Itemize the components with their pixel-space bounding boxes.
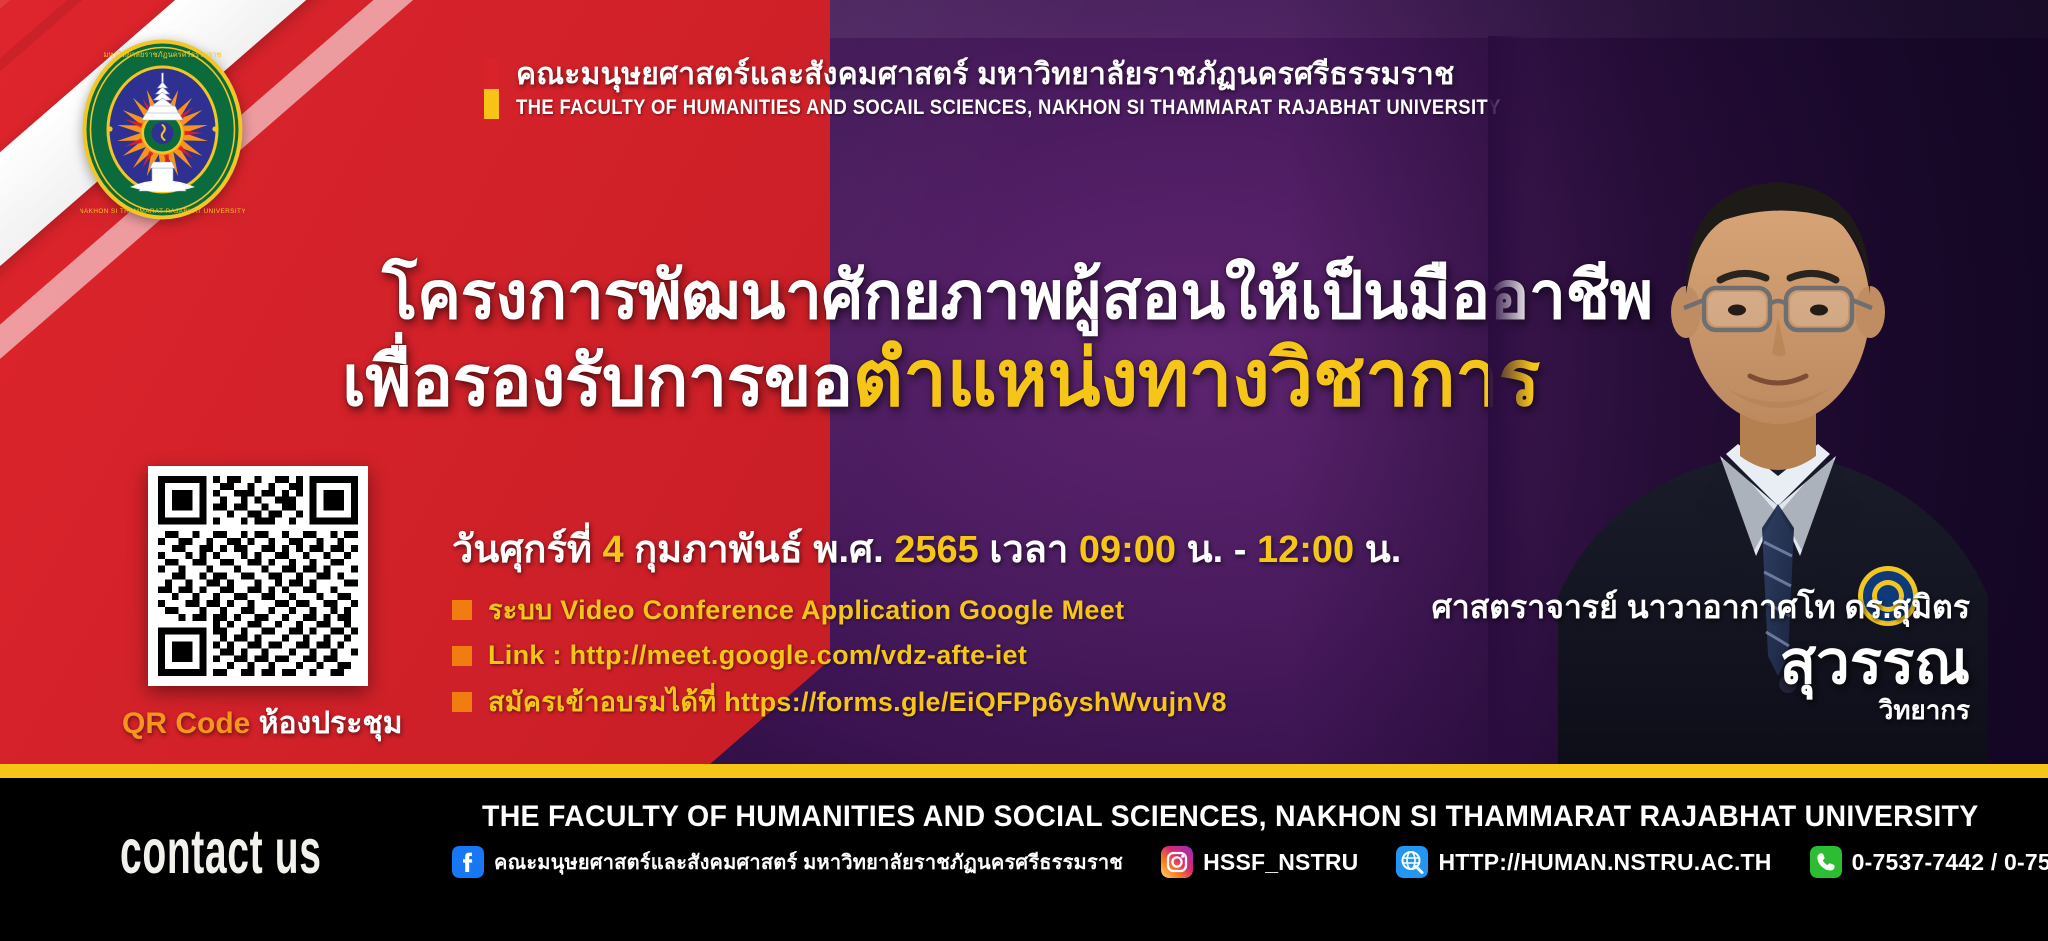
instagram-contact[interactable]: HSSF_NSTRU [1161,846,1358,878]
date-month: กุมภาพันธ์ พ.ศ. [634,529,884,571]
speaker-name: สุวรรณ [1431,631,1970,694]
facebook-contact[interactable]: คณะมนุษยศาสตร์และสังคมศาสตร์ มหาวิทยาลัย… [452,846,1123,878]
promotional-banner: มหาวิทยาลัยราชภัฏนครศรีธรรมราช NAKHON SI… [0,0,2048,941]
university-seal-logo: มหาวิทยาลัยราชภัฏนครศรีธรรมราช NAKHON SI… [80,37,245,222]
qr-code-caption: QR Code ห้องประชุม [122,700,403,747]
list-item: ระบบ Video Conference Application Google… [452,588,1227,631]
time-start: 09:00 [1079,529,1176,571]
headline-line-2-yellow: ตำแหน่งทางวิชาการ [853,334,1540,422]
meeting-link[interactable]: Link : http://meet.google.com/vdz-afte-i… [488,640,1027,671]
yellow-divider [0,764,2048,778]
event-datetime: วันศุกร์ที่ 4 กุมภาพันธ์ พ.ศ. 2565 เวลา … [452,518,1401,579]
banner-stage: มหาวิทยาลัยราชภัฏนครศรีธรรมราช NAKHON SI… [0,0,2048,764]
footer-faculty-title: THE FACULTY OF HUMANITIES AND SOCIAL SCI… [482,800,1979,834]
website-globe-icon [1396,846,1428,878]
headline-line-2-white: เพื่อรองรับการขอ [342,342,853,420]
square-bullet-icon [452,600,472,620]
list-item[interactable]: Link : http://meet.google.com/vdz-afte-i… [452,640,1227,671]
headline-line-1: โครงการพัฒนาศักยภาพผู้สอนให้เป็นมืออาชีพ [382,262,1653,329]
faculty-name-english: THE FACULTY OF HUMANITIES AND SOCAIL SCI… [516,96,1501,119]
instagram-icon [1161,846,1193,878]
website-url: HTTP://HUMAN.NSTRU.AC.TH [1438,849,1771,876]
time-label: เวลา [989,529,1068,571]
svg-text:มหาวิทยาลัยราชภัฏนครศรีธรรมราช: มหาวิทยาลัยราชภัฏนครศรีธรรมราช [103,50,221,59]
list-item[interactable]: สมัครเข้าอบรมได้ที่ https://forms.gle/Ei… [452,680,1227,723]
list-item-label: ระบบ Video Conference Application Google… [488,588,1124,631]
headline-line-2: เพื่อรองรับการขอตำแหน่งทางวิชาการ [342,339,1653,419]
accent-bars [484,58,499,119]
qr-caption-th: ห้องประชุม [259,707,403,740]
footer-contact-row: คณะมนุษยศาสตร์และสังคมศาสตร์ มหาวิทยาลัย… [452,846,2048,878]
speaker-info: ศาสตราจารย์ นาวาอากาศโท ดร.สุมิตร สุวรรณ… [1431,582,1970,731]
svg-text:NAKHON SI THAMMARAT RAJABHAT U: NAKHON SI THAMMARAT RAJABHAT UNIVERSITY [80,208,245,215]
speaker-role: วิทยากร [1431,690,1970,731]
date-year: 2565 [894,529,979,571]
square-bullet-icon [452,646,472,666]
date-prefix: วันศุกร์ที่ [452,529,592,571]
accent-bar-red [484,58,499,89]
qr-code-icon[interactable] [148,466,368,686]
registration-link[interactable]: สมัครเข้าอบรมได้ที่ https://forms.gle/Ei… [488,680,1227,723]
facebook-page-name: คณะมนุษยศาสตร์และสังคมศาสตร์ มหาวิทยาลัย… [494,846,1123,878]
faculty-header: คณะมนุษยศาสตร์และสังคมศาสตร์ มหาวิทยาลัย… [484,58,1635,119]
phone-contact[interactable]: 0-7537-7442 / 0-7580-9842 [1810,846,2048,878]
phone-icon [1810,846,1842,878]
time-end: 12:00 [1257,529,1354,571]
contact-us-label: contact us [120,816,322,888]
qr-caption-en: QR Code [122,707,250,740]
date-day: 4 [602,529,623,571]
instagram-handle: HSSF_NSTRU [1203,849,1358,876]
time-unit-1: น. [1187,529,1224,571]
contact-footer: contact us THE FACULTY OF HUMANITIES AND… [0,778,2048,941]
time-dash: - [1234,529,1247,571]
accent-bar-yellow [484,89,499,120]
event-details-list: ระบบ Video Conference Application Google… [452,588,1227,723]
speaker-title: ศาสตราจารย์ นาวาอากาศโท ดร.สุมิตร [1431,582,1970,633]
website-contact[interactable]: HTTP://HUMAN.NSTRU.AC.TH [1396,846,1771,878]
event-headline: โครงการพัฒนาศักยภาพผู้สอนให้เป็นมืออาชีพ… [382,262,1653,419]
phone-numbers: 0-7537-7442 / 0-7580-9842 [1852,849,2048,876]
time-unit-2: น. [1365,529,1402,571]
square-bullet-icon [452,692,472,712]
facebook-icon [452,846,484,878]
faculty-name-thai: คณะมนุษยศาสตร์และสังคมศาสตร์ มหาวิทยาลัย… [516,58,1635,91]
